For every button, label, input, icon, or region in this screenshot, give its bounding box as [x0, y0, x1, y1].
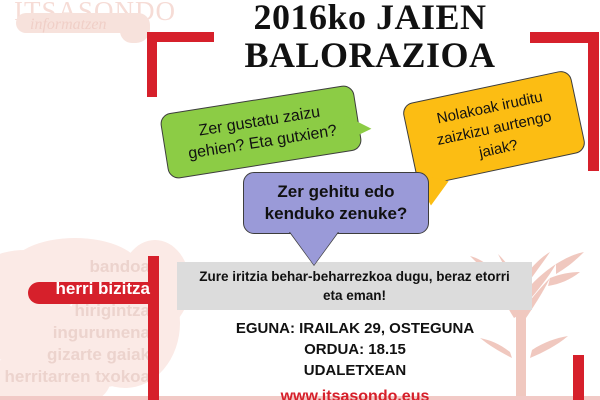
sidebar-item-label: herri bizitza — [56, 279, 150, 298]
speech-bubble-text: Nolakoak iruditu zaizkizu aurtengo jaiak… — [430, 85, 557, 171]
speech-bubble-text: Zer gustatu zaizu gehien? Eta gutxien? — [183, 99, 338, 164]
sidebar-item-label: ingurumena — [53, 323, 150, 342]
event-time: ORDUA: 18.15 — [190, 339, 520, 360]
event-details: EGUNA: IRAILAK 29, OSTEGUNA ORDUA: 18.15… — [190, 318, 520, 381]
sidebar-item-label: bandoa — [90, 257, 150, 276]
speech-bubble-green: Zer gustatu zaizu gehien? Eta gutxien? — [159, 84, 363, 180]
sidebar-item-herritarren-txokoa[interactable]: herritarren txokoa — [0, 366, 160, 388]
sidebar-item-label: gizarte gaiak — [47, 345, 150, 364]
bubble-purple-line-2: kenduko zenuke? — [265, 203, 408, 225]
sidebar-item-label: herritarren txokoa — [5, 367, 151, 386]
footer-website-link[interactable]: www.itsasondo.eus — [190, 388, 520, 400]
logo-swoosh-tail-shape — [120, 13, 150, 43]
event-place: UDALETXEAN — [190, 360, 520, 381]
poster-headline: 2016ko JAIEN BALORAZIOA — [190, 0, 550, 74]
sidebar-item-gizarte-gaiak[interactable]: gizarte gaiak — [0, 344, 160, 366]
event-day: EGUNA: IRAILAK 29, OSTEGUNA — [190, 318, 520, 339]
poster-canvas: ITSASONDO informatzen bandoa herri bizit… — [0, 0, 600, 400]
callout-line-2: eta eman! — [199, 286, 510, 305]
callout-text: Zure iritzia behar-beharrezkoa dugu, ber… — [199, 267, 510, 305]
sidebar-nav: bandoa herri bizitza hirigintza ingurume… — [0, 256, 160, 388]
speech-bubble-tail — [290, 232, 338, 265]
logo-subtitle: informatzen — [30, 16, 106, 34]
headline-line-2: BALORAZIOA — [190, 36, 550, 74]
speech-bubble-tail — [341, 115, 372, 146]
sidebar-item-ingurumena[interactable]: ingurumena — [0, 322, 160, 344]
speech-bubble-purple: Zer gehitu edo kenduko zenuke? — [243, 172, 429, 234]
sidebar-item-bandoa[interactable]: bandoa — [0, 256, 160, 278]
headline-line-1: 2016ko JAIEN — [190, 0, 550, 36]
callout-line-1: Zure iritzia behar-beharrezkoa dugu, ber… — [199, 267, 510, 286]
red-bar-bottom-right — [573, 355, 584, 400]
callout-panel: Zure iritzia behar-beharrezkoa dugu, ber… — [177, 262, 532, 310]
sidebar-item-herri-bizitza[interactable]: herri bizitza — [0, 278, 160, 300]
bubble-purple-line-1: Zer gehitu edo — [265, 181, 408, 203]
speech-bubble-text: Zer gehitu edo kenduko zenuke? — [265, 181, 408, 225]
